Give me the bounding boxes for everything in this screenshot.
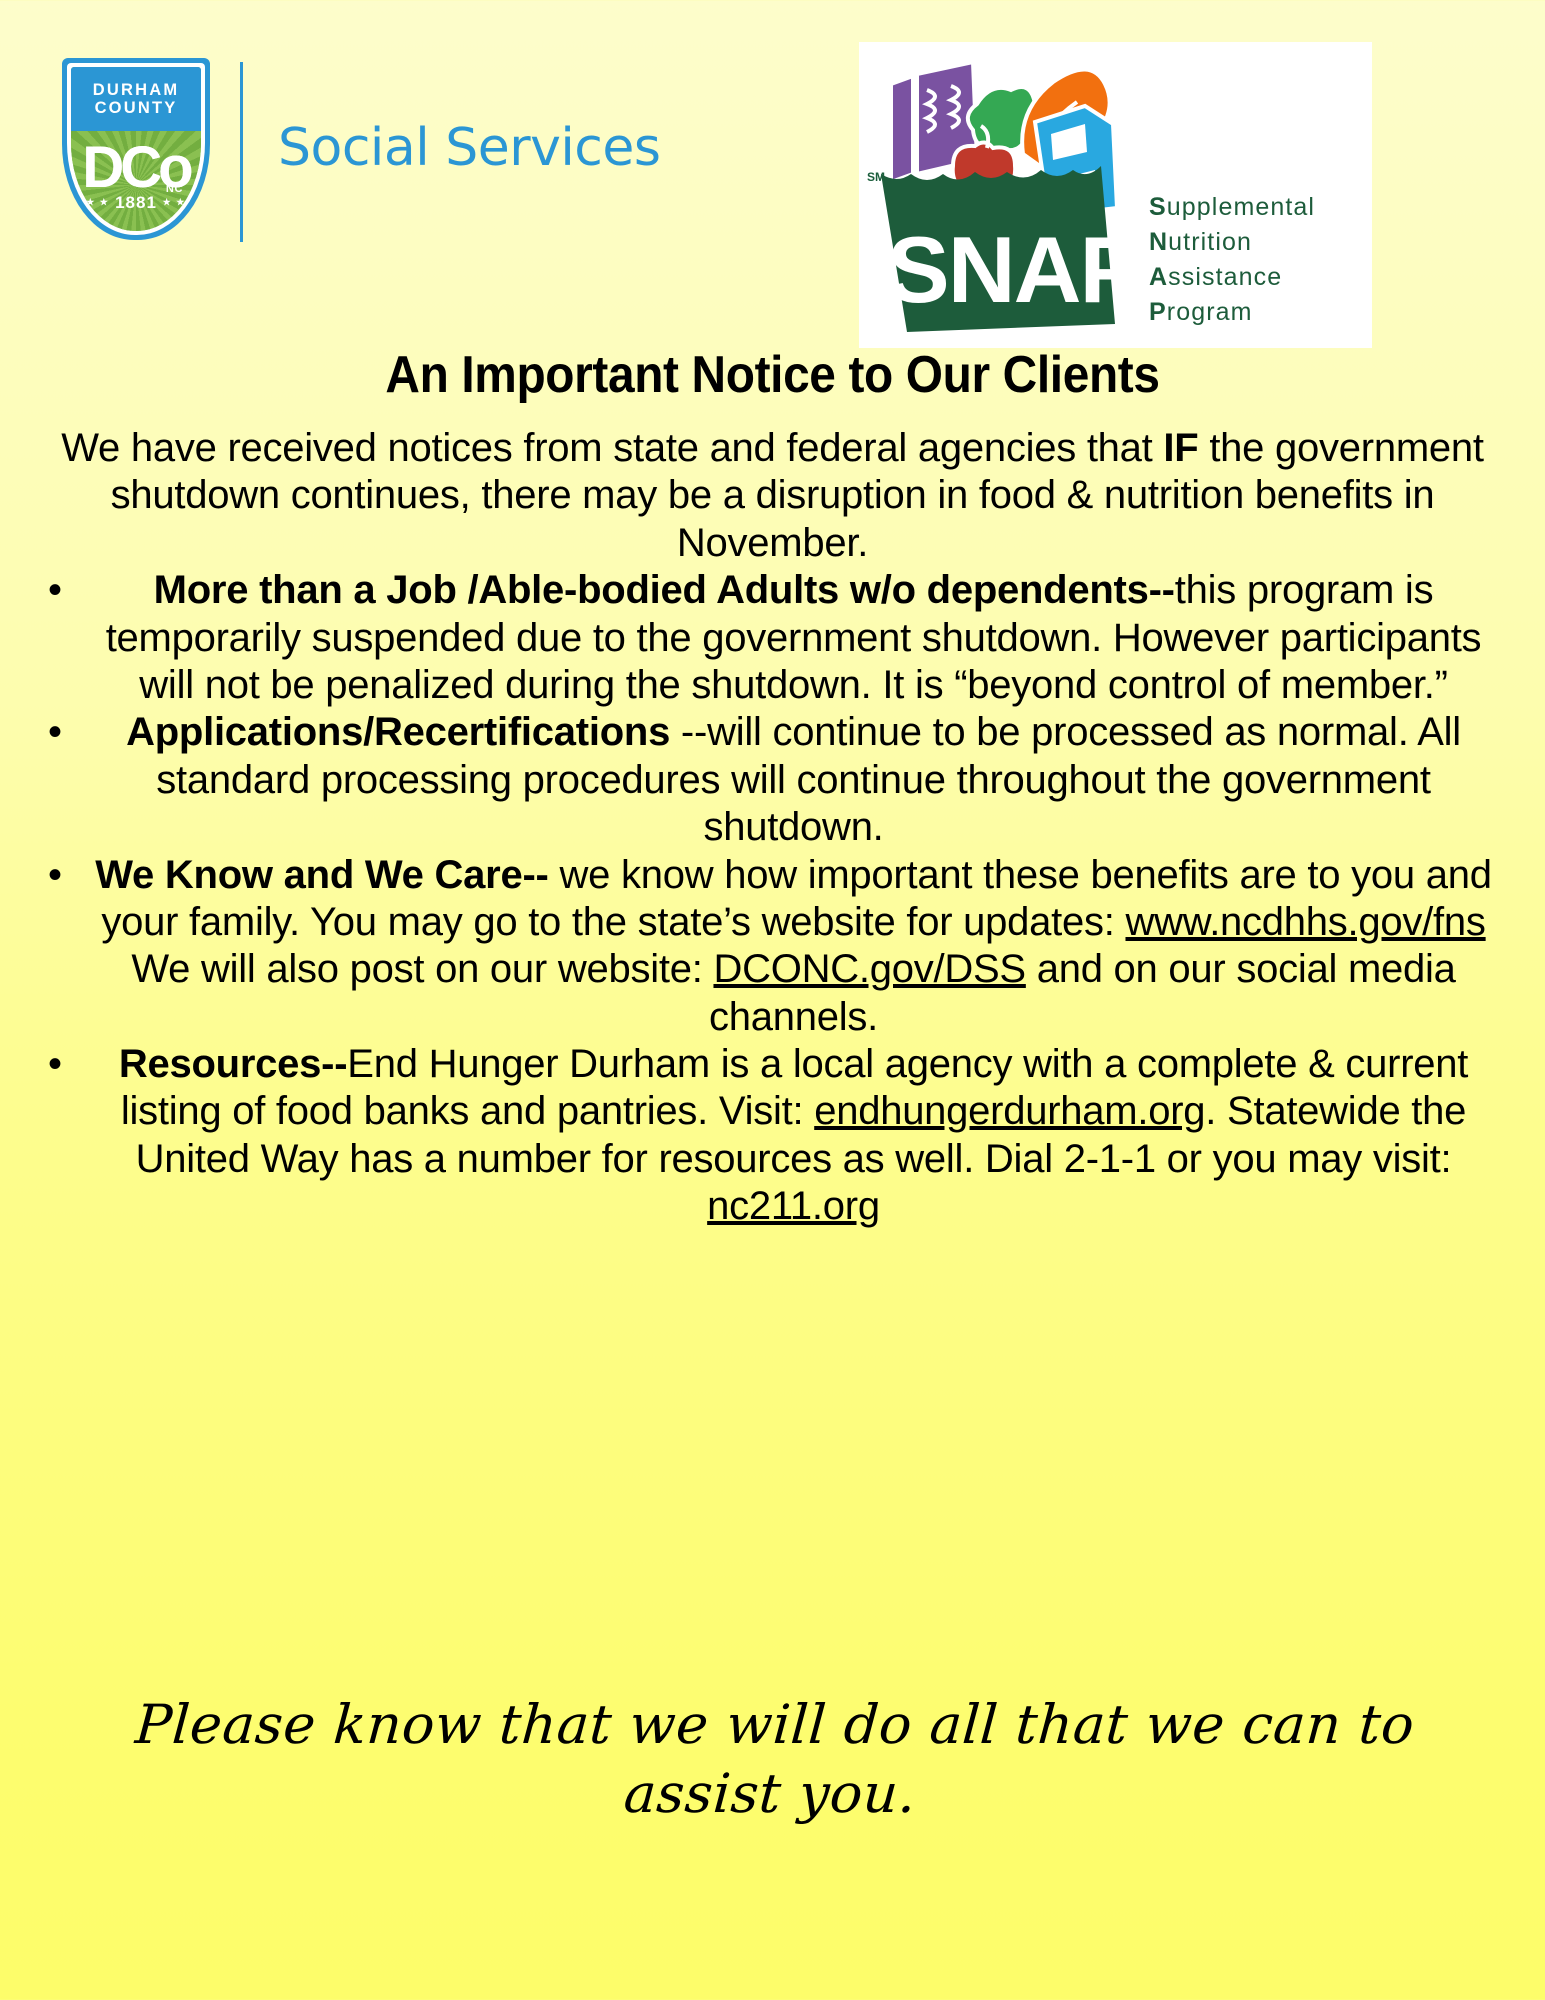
link-ncdhhs[interactable]: www.ncdhhs.gov/fns	[1125, 900, 1485, 944]
intro-paragraph: We have received notices from state and …	[48, 425, 1497, 567]
snap-expansion: Supplemental Nutrition Assistance Progra…	[1149, 190, 1315, 330]
snap-cap-a: A	[1149, 263, 1168, 291]
closing-message: Please know that we will do all that we …	[0, 1690, 1545, 1828]
snap-rest-p: rogram	[1167, 298, 1253, 326]
snap-rest-s: upplemental	[1167, 193, 1315, 221]
bullet-heading-applications: Applications/Recertifications	[126, 710, 670, 754]
service-mark-label: SM	[867, 170, 885, 184]
bullet-heading-we-care: We Know and We Care--	[95, 853, 548, 897]
snap-rest-n: utrition	[1168, 228, 1252, 256]
snap-word-line: Nutrition	[1149, 225, 1315, 260]
header-divider	[240, 62, 243, 242]
svg-text:SNAP: SNAP	[887, 217, 1140, 322]
shield-face: DURHAM COUNTY DCo NC ★ ★ ★ 1881 ★ ★ ★	[71, 67, 201, 231]
stars-right-icon: ★ ★ ★	[163, 197, 200, 207]
intro-before-bold: We have received notices from state and …	[61, 426, 1163, 470]
county-name-line1: DURHAM	[93, 82, 180, 99]
bullet-able-bodied-adults: More than a Job /Able-bodied Adults w/o …	[48, 567, 1497, 709]
snap-rest-a: ssistance	[1168, 263, 1282, 291]
snap-logo: SNAP SM Supplemental Nutrition Assistanc…	[859, 42, 1372, 348]
department-name: Social Services	[278, 118, 660, 178]
notice-bullet-list: More than a Job /Able-bodied Adults w/o …	[48, 567, 1497, 1230]
snap-grocery-bag-icon: SNAP	[873, 56, 1143, 334]
snap-word-line: Assistance	[1149, 260, 1315, 295]
bullet-applications-recerts: Applications/Recertifications --will con…	[48, 709, 1497, 851]
page-title: An Important Notice to Our Clients	[106, 345, 1439, 405]
intro-bold-if: IF	[1163, 426, 1198, 470]
durham-county-logo: DURHAM COUNTY DCo NC ★ ★ ★ 1881 ★ ★ ★	[62, 58, 210, 240]
dco-monogram-wrap: DCo NC	[71, 139, 201, 197]
page-header: DURHAM COUNTY DCo NC ★ ★ ★ 1881 ★ ★ ★ So…	[0, 0, 1545, 360]
snap-word-line: Program	[1149, 295, 1315, 330]
founding-year: 1881	[115, 193, 157, 212]
shield-top-band: DURHAM COUNTY	[71, 67, 201, 131]
notice-body: An Important Notice to Our Clients We ha…	[0, 345, 1545, 1231]
snap-cap-p: P	[1149, 298, 1167, 326]
bullet-heading-able-bodied: More than a Job /Able-bodied Adults w/o …	[154, 568, 1175, 612]
link-endhungerdurham[interactable]: endhungerdurham.org	[814, 1089, 1205, 1133]
bullet-resources: Resources--End Hunger Durham is a local …	[48, 1041, 1497, 1231]
bullet-body-we-care-2: We will also post on our website:	[131, 947, 713, 991]
link-nc211[interactable]: nc211.org	[707, 1184, 880, 1228]
snap-cap-n: N	[1149, 228, 1168, 256]
snap-word-line: Supplemental	[1149, 190, 1315, 225]
snap-cap-s: S	[1149, 193, 1167, 221]
founding-year-row: ★ ★ ★ 1881 ★ ★ ★	[71, 193, 201, 213]
link-dconc-dss[interactable]: DCONC.gov/DSS	[713, 947, 1025, 991]
bullet-heading-resources: Resources--	[119, 1042, 347, 1086]
bullet-we-know-we-care: We Know and We Care-- we know how import…	[48, 852, 1497, 1042]
stars-left-icon: ★ ★ ★	[73, 197, 110, 207]
county-name-line2: COUNTY	[95, 100, 178, 117]
